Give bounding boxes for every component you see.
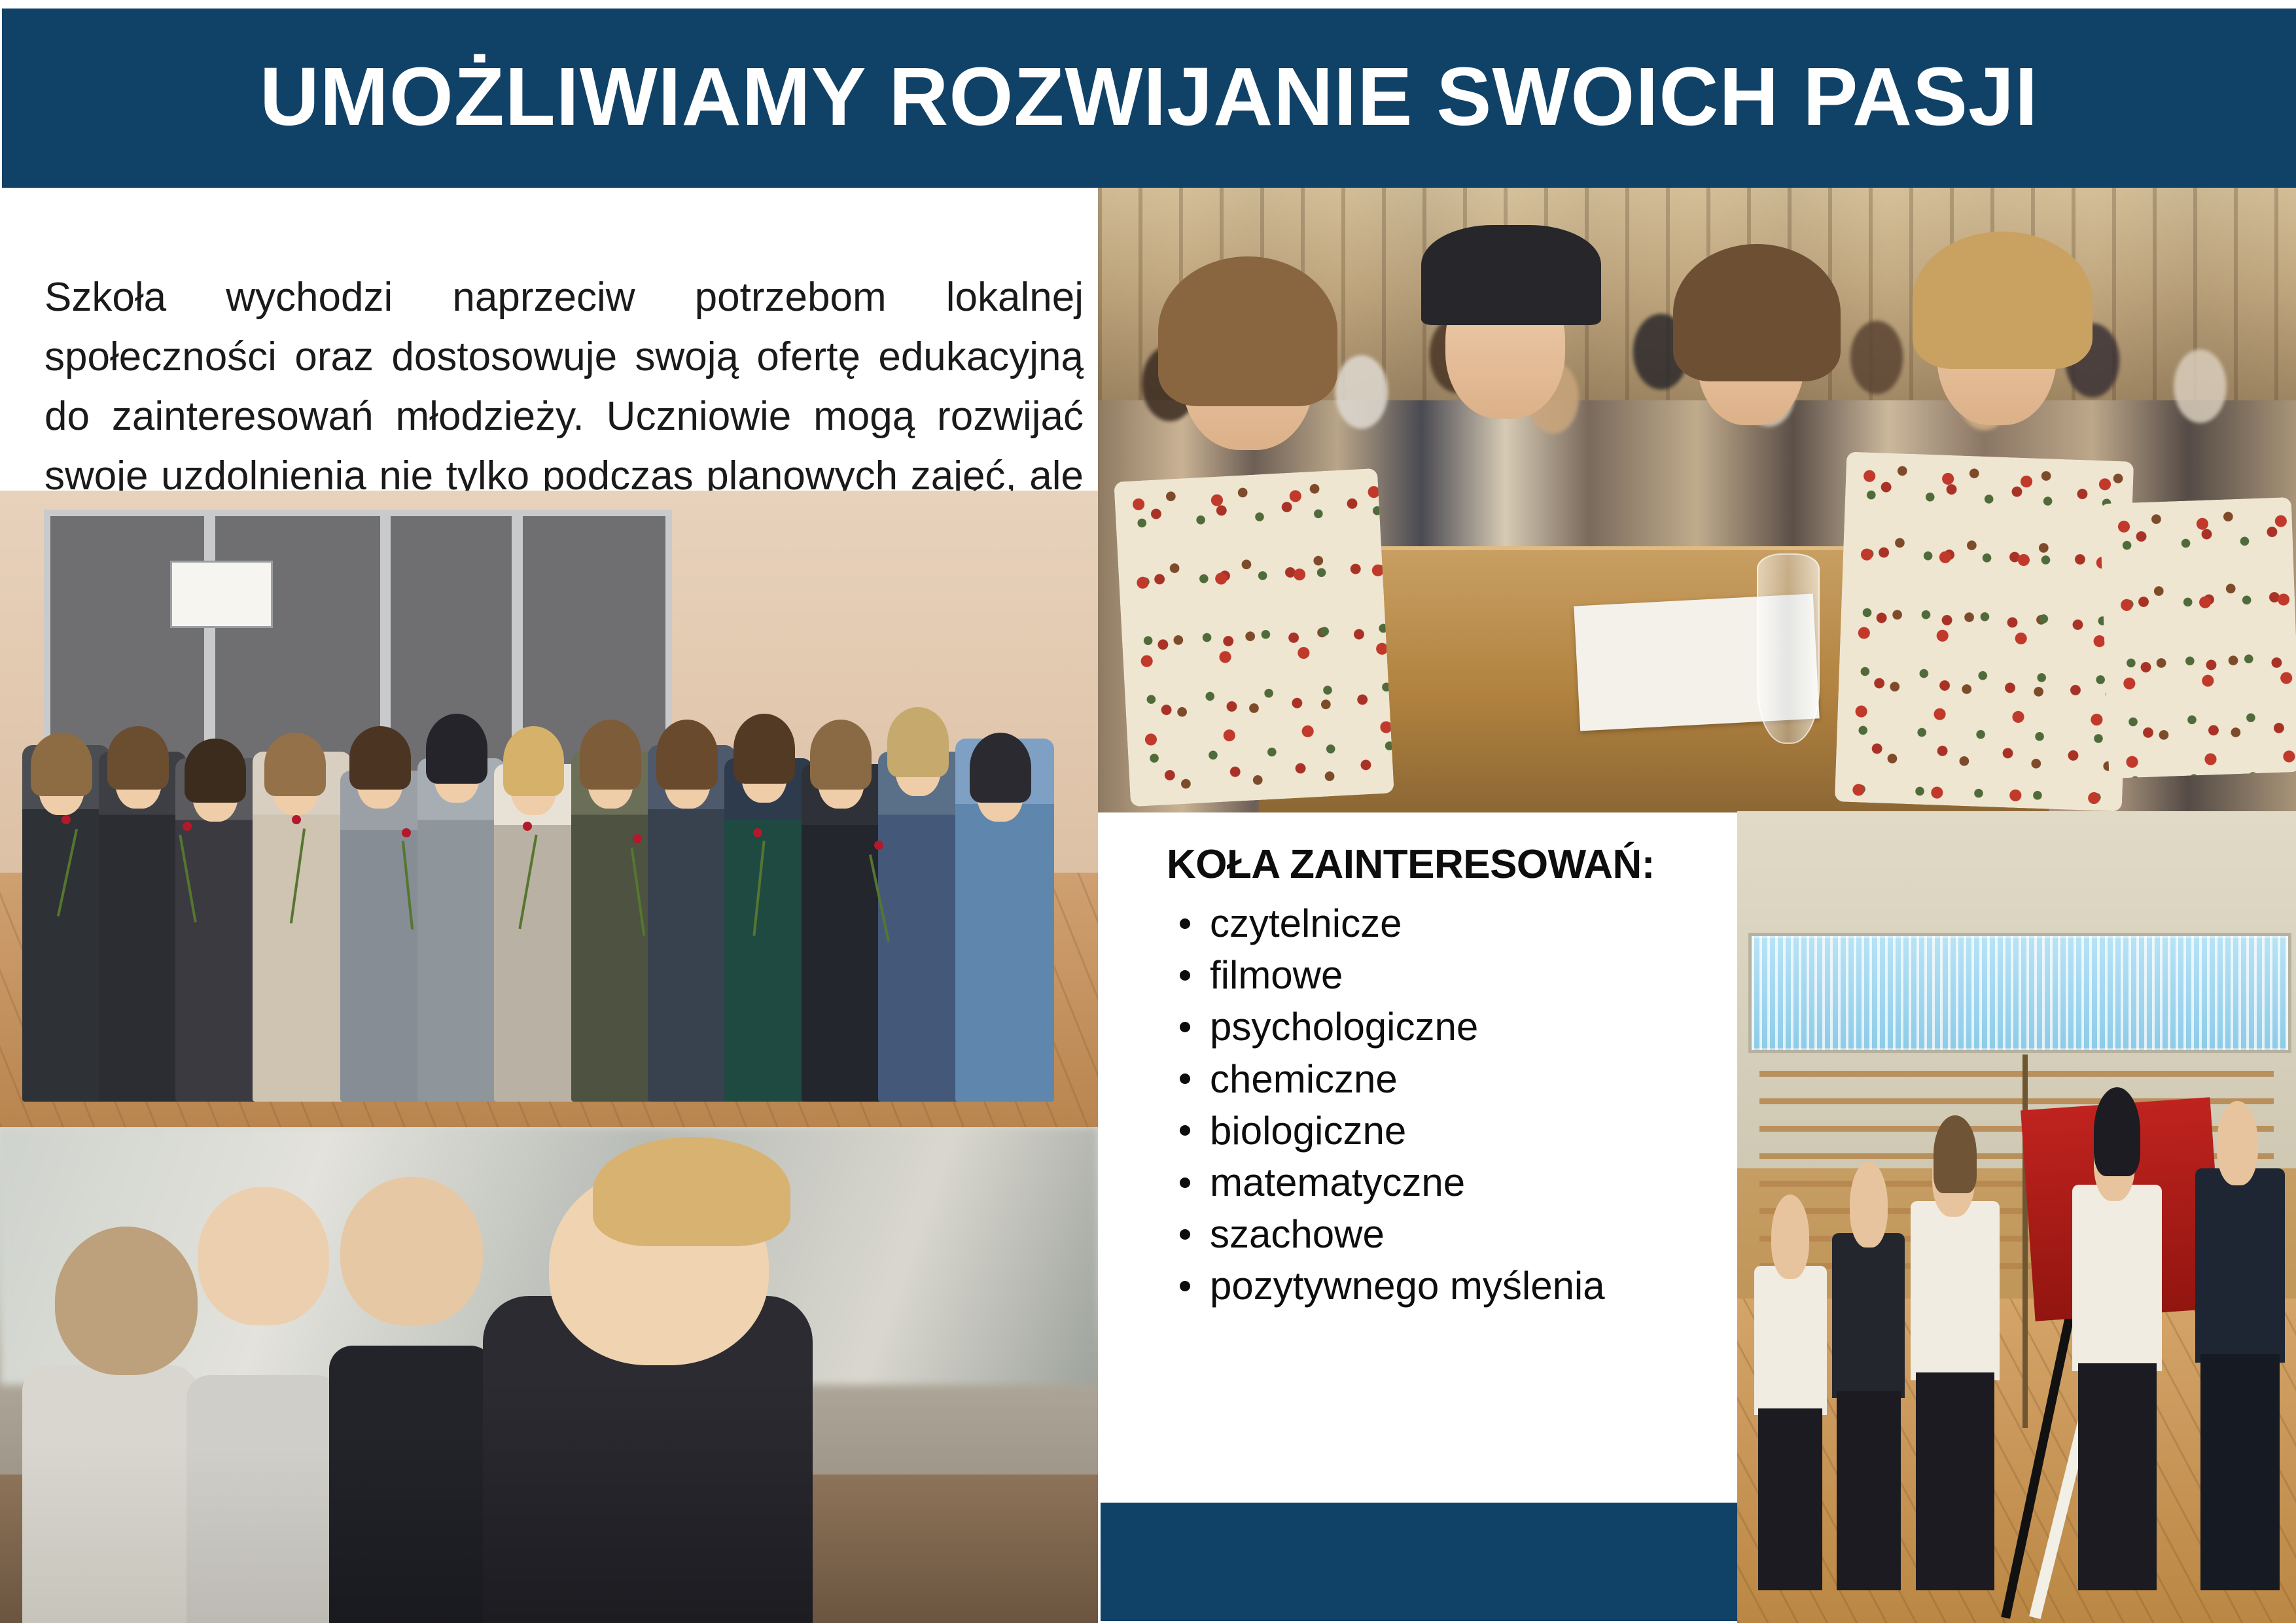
student-hair-1 (31, 733, 92, 796)
student-figure-6 (417, 758, 505, 1102)
student-hair-3 (185, 739, 246, 802)
photo-roses-group-content (0, 491, 1098, 1127)
photo-folk-group (1098, 188, 2296, 812)
student-hat (1421, 225, 1601, 325)
list-item: matematyczne (1210, 1157, 1605, 1208)
ceremony-person-3 (1911, 1201, 2000, 1591)
list-item-label: filmowe (1210, 953, 1343, 997)
student-head-left (55, 1227, 198, 1375)
interests-heading: KOŁA ZAINTERESOWAŃ: (1167, 841, 1655, 888)
student-hair-12 (887, 707, 949, 777)
list-item: biologiczne (1210, 1105, 1605, 1157)
student-hair-5 (349, 726, 411, 790)
folk-shawl-left (1114, 468, 1394, 807)
student-hair-11 (810, 720, 872, 790)
bullet-icon (1180, 970, 1190, 981)
student-hair-3 (1673, 244, 1841, 381)
hair-bow (2094, 1087, 2140, 1177)
footer-accent-block (1101, 1503, 1737, 1621)
list-item: filmowe (1210, 949, 1605, 1001)
intro-text-block: Szkoła wychodzi naprzeciw potrzebom loka… (0, 188, 1098, 491)
bullet-icon (1180, 1281, 1190, 1291)
list-item-label: biologiczne (1210, 1109, 1406, 1153)
photo-roses-group (0, 491, 1098, 1127)
folk-shawl-right (1835, 451, 2134, 811)
photo-desk-work (0, 1127, 1098, 1623)
list-item: szachowe (1210, 1208, 1605, 1260)
list-item: psychologiczne (1210, 1001, 1605, 1053)
student-hair-9 (656, 720, 718, 790)
glass-vase (1757, 553, 1820, 744)
blonde-bun (593, 1137, 790, 1246)
bullet-icon (1180, 1125, 1190, 1136)
rose-flower-2 (183, 822, 192, 831)
dark-trousers (1837, 1391, 1901, 1591)
list-item-label: szachowe (1210, 1212, 1385, 1256)
photo-folk-group-content (1098, 188, 2296, 812)
student-figure-third (329, 1346, 494, 1623)
student-hair-4 (1913, 232, 2093, 369)
rose-flower-6 (633, 834, 642, 843)
rose-flower-5 (523, 822, 532, 831)
student-hair-10 (733, 714, 795, 784)
student-hair-4 (264, 733, 326, 796)
person-head (2217, 1101, 2258, 1185)
photo-ceremony (1737, 811, 2296, 1623)
student-hair-8 (580, 720, 641, 790)
ceremony-person-2 (1832, 1233, 1905, 1590)
list-item-label: czytelnicze (1210, 901, 1402, 945)
photo-ceremony-content (1737, 811, 2296, 1623)
photo-desk-work-content (0, 1127, 1098, 1623)
page-title: UMOŻLIWIAMY ROZWIJANIE SWOICH PASJI (260, 56, 2038, 141)
dark-trousers (2078, 1363, 2157, 1590)
student-figure-10 (724, 758, 812, 1102)
bullet-icon (1180, 1073, 1190, 1084)
white-shirt (2072, 1185, 2162, 1371)
dark-uniform (2195, 1168, 2285, 1363)
folk-shawl-far-right (2100, 497, 2296, 778)
list-item: pozytywnego myślenia (1210, 1260, 1605, 1312)
dark-uniform (1832, 1233, 1905, 1397)
gym-windows (1748, 933, 2291, 1053)
bullet-icon (1180, 918, 1190, 929)
student-figure-5 (340, 771, 428, 1102)
list-item-label: matematyczne (1210, 1161, 1465, 1204)
student-figure-12 (878, 752, 966, 1102)
list-item-label: pozytywnego myślenia (1210, 1264, 1605, 1308)
person-head (1850, 1162, 1888, 1248)
ceremony-person-4 (2072, 1185, 2162, 1591)
white-shirt (1754, 1266, 1827, 1415)
bullet-icon (1180, 1022, 1190, 1032)
student-hair-7 (503, 726, 565, 796)
person-head (1771, 1195, 1809, 1279)
rose-flower-8 (874, 841, 883, 850)
bullet-icon (1180, 1178, 1190, 1188)
student-cap-13 (970, 733, 1031, 803)
wall-sign (170, 561, 273, 628)
list-item-label: chemiczne (1210, 1057, 1398, 1101)
interests-panel: KOŁA ZAINTERESOWAŃ: czytelnicze filmowe … (1101, 812, 1737, 1503)
dark-skirt (1758, 1408, 1822, 1590)
person-hair (1934, 1115, 1977, 1193)
list-item: czytelnicze (1210, 898, 1605, 949)
student-head-second (198, 1187, 329, 1325)
student-hair-2 (107, 726, 169, 790)
student-hair-1 (1158, 256, 1338, 406)
dark-trousers (1916, 1372, 1994, 1591)
student-cap-6 (426, 714, 487, 784)
bullet-icon (1180, 1229, 1190, 1240)
student-figure-second (186, 1375, 340, 1623)
list-item: chemiczne (1210, 1053, 1605, 1105)
student-figure-11 (802, 764, 889, 1102)
list-item-label: psychologiczne (1210, 1005, 1478, 1049)
ceremony-person-5 (2195, 1168, 2285, 1590)
dark-trousers (2200, 1354, 2279, 1590)
white-shirt (1911, 1201, 2000, 1380)
student-head-third (340, 1177, 483, 1325)
header-banner: UMOŻLIWIAMY ROZWIJANIE SWOICH PASJI (2, 9, 2296, 188)
rose-flower-7 (753, 828, 762, 837)
ceremony-person-1 (1754, 1266, 1827, 1590)
interests-list: czytelnicze filmowe psychologiczne chemi… (1169, 898, 1605, 1312)
rose-flower-4 (402, 828, 411, 837)
student-figure-left (22, 1365, 198, 1623)
